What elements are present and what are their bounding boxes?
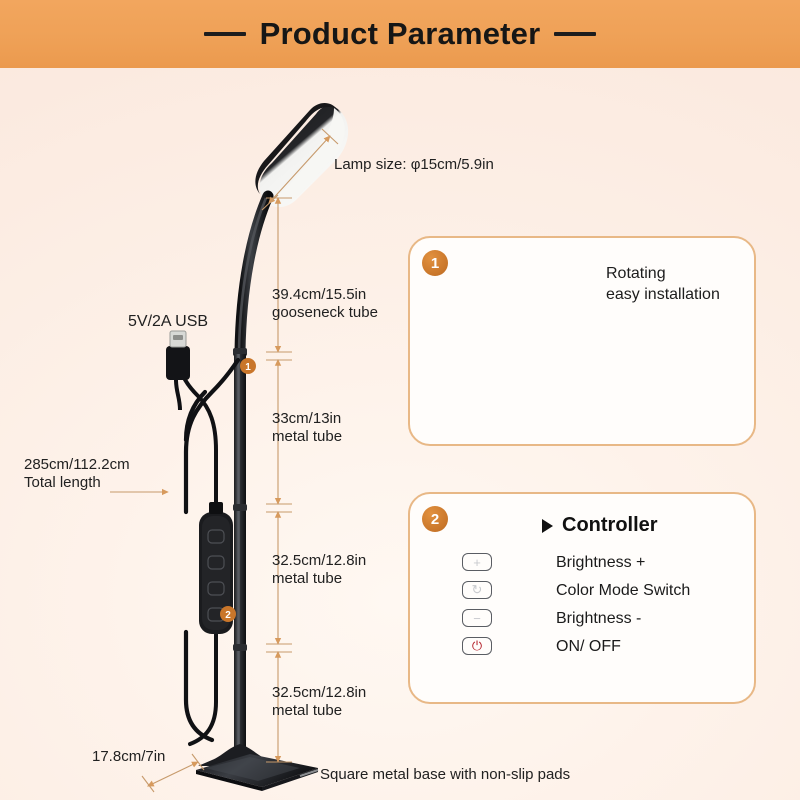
lamp-base	[196, 744, 318, 791]
controller-heading: Controller	[542, 514, 658, 537]
svg-text:2: 2	[225, 610, 231, 621]
metal-tube-325-upper-label: 32.5cm/12.8in metal tube	[272, 552, 366, 589]
rotating-installation-text: Rotating easy installation	[606, 264, 720, 306]
tube-joint-lower	[233, 644, 247, 651]
callout-box-controller: 2 Controller Brightness + Color Mode Swi…	[408, 492, 756, 704]
power-icon[interactable]: ⏻	[462, 637, 492, 655]
svg-text:1: 1	[245, 362, 251, 373]
total-length-label: 285cm/112.2cm Total length	[24, 456, 130, 493]
usb-label: 5V/2A USB	[128, 312, 208, 332]
controller-heading-label: Controller	[562, 514, 658, 537]
callout-badge-2: 2	[422, 506, 448, 532]
product-parameter-infographic: Product Parameter	[0, 0, 800, 800]
tube-joint-middle	[233, 504, 247, 511]
usb-connector	[166, 331, 190, 410]
callout-box-rotating-installation: 1 Rotating easy installation	[408, 236, 756, 446]
gooseneck-label: 39.4cm/15.5in gooseneck tube	[272, 286, 378, 323]
controller-label-on-off: ON/ OFF	[556, 638, 621, 656]
lamp-size-label: Lamp size: φ15cm/5.9in	[334, 156, 494, 174]
lamp-pole	[234, 354, 246, 758]
base-width-label: 17.8cm/7in	[92, 748, 165, 766]
color-mode-icon[interactable]: ↻	[462, 581, 492, 599]
controller-label-brightness-up: Brightness +	[556, 554, 645, 572]
controller-label-color-mode: Color Mode Switch	[556, 582, 690, 600]
plus-icon[interactable]: +	[462, 553, 492, 571]
controller-label-brightness-down: Brightness -	[556, 610, 641, 628]
callout-badge-1: 1	[422, 250, 448, 276]
metal-tube-325-lower-label: 32.5cm/12.8in metal tube	[272, 684, 366, 721]
gooseneck-tube	[240, 196, 268, 352]
minus-icon[interactable]: −	[462, 609, 492, 627]
pole-marker-one: 1	[240, 358, 256, 374]
triangle-bullet-icon	[542, 519, 553, 533]
metal-tube-33-label: 33cm/13in metal tube	[272, 410, 342, 447]
pole-marker-two: 2	[220, 606, 236, 622]
base-caption-label: Square metal base with non-slip pads	[320, 766, 570, 784]
